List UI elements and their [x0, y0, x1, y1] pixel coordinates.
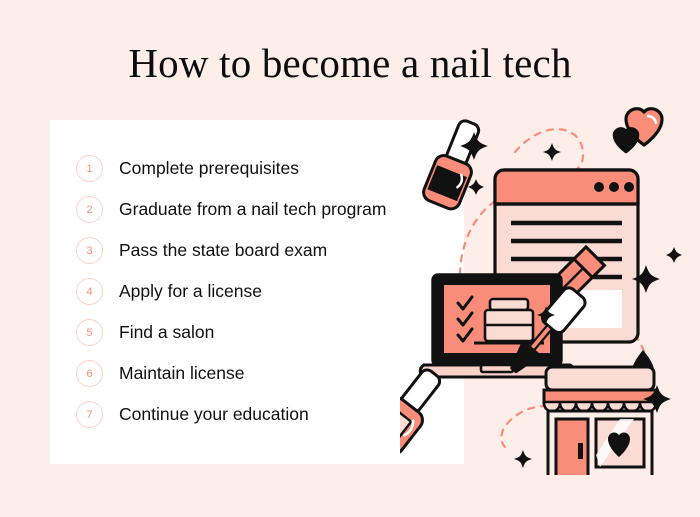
salon-storefront-icon	[544, 367, 656, 475]
sparkle-icon	[543, 143, 561, 161]
double-heart-icon	[614, 109, 662, 152]
step-number-badge: 7	[76, 401, 103, 428]
sparkle-icon	[514, 450, 532, 468]
step-number-badge: 6	[76, 360, 103, 387]
nail-polish-bottle-top-icon	[421, 116, 489, 212]
sparkle-icon	[468, 179, 484, 195]
step-number-badge: 2	[76, 196, 103, 223]
step-number-badge: 4	[76, 278, 103, 305]
step-number-badge: 1	[76, 155, 103, 182]
illustration-group	[400, 95, 700, 475]
sparkle-icon	[666, 247, 682, 263]
step-label: Find a salon	[119, 322, 214, 343]
step-label: Continue your education	[119, 404, 309, 425]
infographic-canvas: How to become a nail tech 1 Complete pre…	[0, 0, 700, 517]
step-label: Pass the state board exam	[119, 240, 327, 261]
step-number-badge: 5	[76, 319, 103, 346]
step-number-badge: 3	[76, 237, 103, 264]
step-label: Maintain license	[119, 363, 244, 384]
page-title: How to become a nail tech	[0, 38, 700, 88]
step-label: Complete prerequisites	[119, 158, 299, 179]
step-label: Apply for a license	[119, 281, 262, 302]
step-label: Graduate from a nail tech program	[119, 199, 387, 220]
